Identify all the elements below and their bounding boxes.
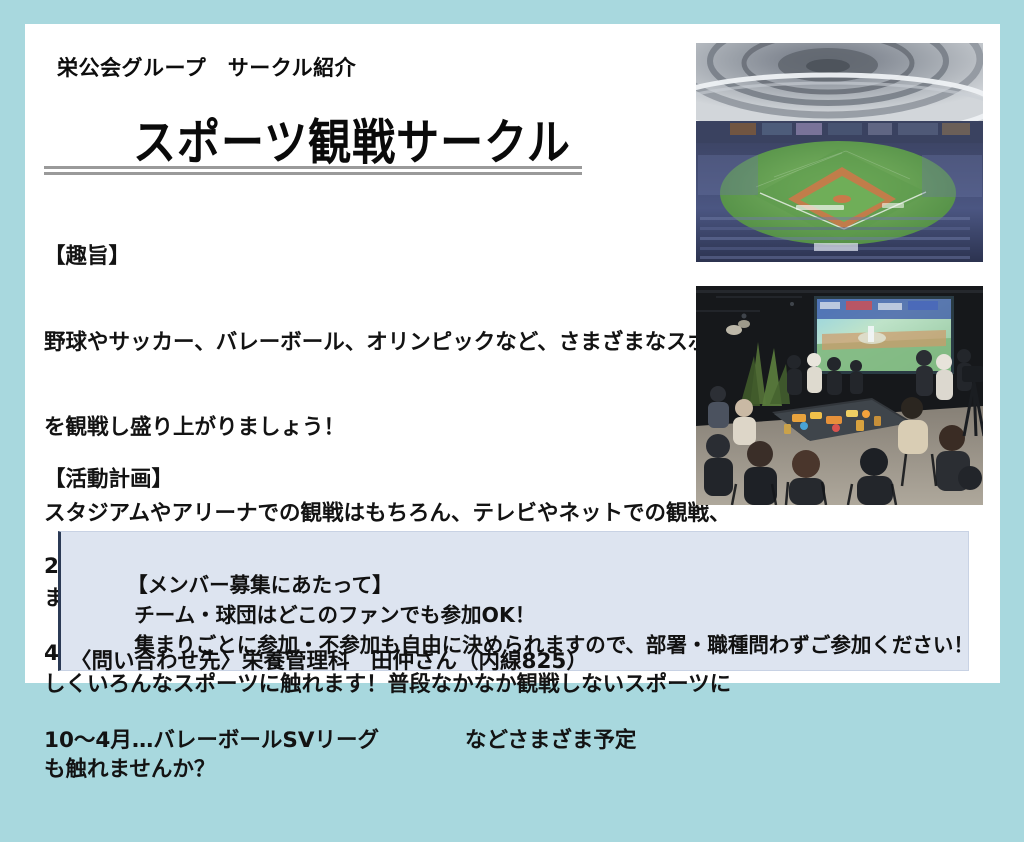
title-divider <box>44 166 582 175</box>
photo-public-viewing-gathering <box>696 286 983 505</box>
public-viewing-illustration <box>696 286 983 505</box>
purpose-line: 野球やサッカー、バレーボール、オリンピックなど、さまざまなスポーツ <box>44 329 752 358</box>
page-title: スポーツ観戦サークル <box>133 104 571 173</box>
plan-heading: 【活動計画】 <box>44 465 636 494</box>
poster-sheet: 栄公会グループ サークル紹介 スポーツ観戦サークル 【趣旨】 野球やサッカー、バ… <box>25 24 1000 683</box>
stadium-illustration <box>696 43 983 262</box>
purpose-heading: 【趣旨】 <box>44 243 752 272</box>
plan-line: 10〜4月…バレーボールSVリーグ などさまざま予定 <box>44 726 636 755</box>
organization-line: 栄公会グループ サークル紹介 <box>57 52 356 82</box>
contact-line: 〈問い合わせ先〉栄養管理科 田仲さん（内線825） <box>70 644 588 675</box>
divider-line-top <box>44 166 582 169</box>
recruit-line: チーム・球団はどこのファンでも参加OK！ <box>127 603 535 627</box>
divider-line-bottom <box>44 172 582 175</box>
photo-domed-baseball-stadium <box>696 43 983 262</box>
recruit-heading: 【メンバー募集にあたって】 <box>127 573 392 597</box>
poster-frame: 栄公会グループ サークル紹介 スポーツ観戦サークル 【趣旨】 野球やサッカー、バ… <box>0 0 1024 709</box>
member-recruitment-box: 【メンバー募集にあたって】 チーム・球団はどこのファンでも参加OK！ 集まりごと… <box>58 531 969 671</box>
